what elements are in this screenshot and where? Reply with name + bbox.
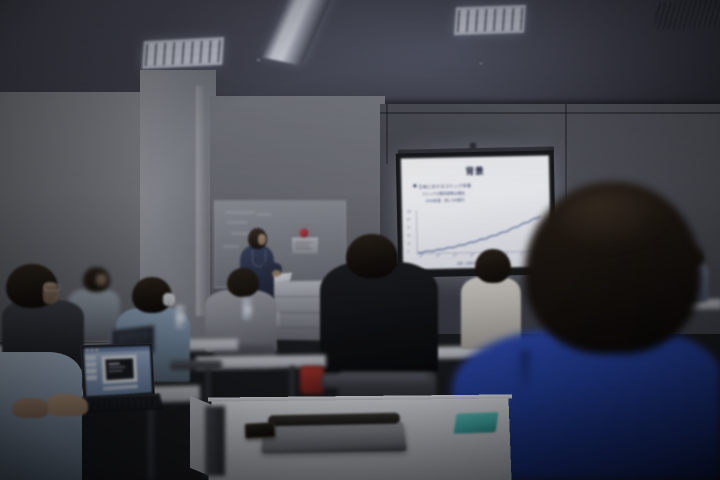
laptop-foreground-black[interactable] [80, 343, 155, 401]
desk-leg [148, 400, 155, 480]
attendee-white-shirt-head [475, 249, 511, 283]
attendee-gray-shirt-face [96, 274, 107, 286]
water-bottle-center [176, 305, 185, 329]
ceiling-fitting-dot [479, 62, 483, 65]
slide-chart: 100 80 60 40 20 0 1995 1998 2001 2004 20… [416, 208, 543, 259]
teal-notebook[interactable] [454, 412, 499, 434]
chair-back-left [170, 360, 222, 370]
red-bag [300, 366, 324, 394]
glasses-icon [44, 284, 60, 291]
slide-title: 背景 [401, 163, 549, 178]
attendee-front-left-hand-left [12, 398, 48, 418]
slide-bullet-3: 2016年度 約1,700億円 [426, 198, 465, 204]
chair-leg [205, 406, 225, 476]
face-mask-icon [163, 293, 175, 306]
door-frame [196, 86, 206, 316]
laptop-sleeve[interactable] [261, 421, 407, 453]
lecture-room-photo: 背景 日本におけるコミック市場 コミックの販売部数は増加 2016年度 約1,7… [0, 0, 720, 480]
ceiling-fitting-dot [256, 58, 261, 62]
chart-line-series [416, 208, 543, 259]
attendee-center-dark-head [346, 234, 398, 278]
ceiling-light-right-icon [454, 5, 526, 35]
attendee-front-left-hand-right [46, 394, 88, 416]
attendee-center-dark-body [320, 262, 438, 372]
wall-notice [291, 236, 319, 254]
presenter-hand [272, 270, 281, 277]
air-vent-icon [654, 0, 720, 30]
slide-bullet-1: 日本におけるコミック市場 [413, 183, 471, 190]
wall-panel-seam [380, 112, 720, 114]
ceiling-light-left-icon [142, 37, 224, 69]
polo-collar-seam [520, 350, 530, 390]
attendee-gray-sweater-head [227, 268, 259, 297]
smartphone[interactable] [245, 422, 276, 439]
slide-bullet-2: コミックの販売部数は増加 [422, 191, 465, 197]
chair-back-center [322, 374, 428, 388]
status-light-red-icon [300, 229, 308, 237]
water-bottle-right [243, 298, 252, 320]
hair-highlight [560, 190, 670, 250]
presenter-face [258, 234, 266, 245]
screen-pull-knob [470, 143, 476, 150]
